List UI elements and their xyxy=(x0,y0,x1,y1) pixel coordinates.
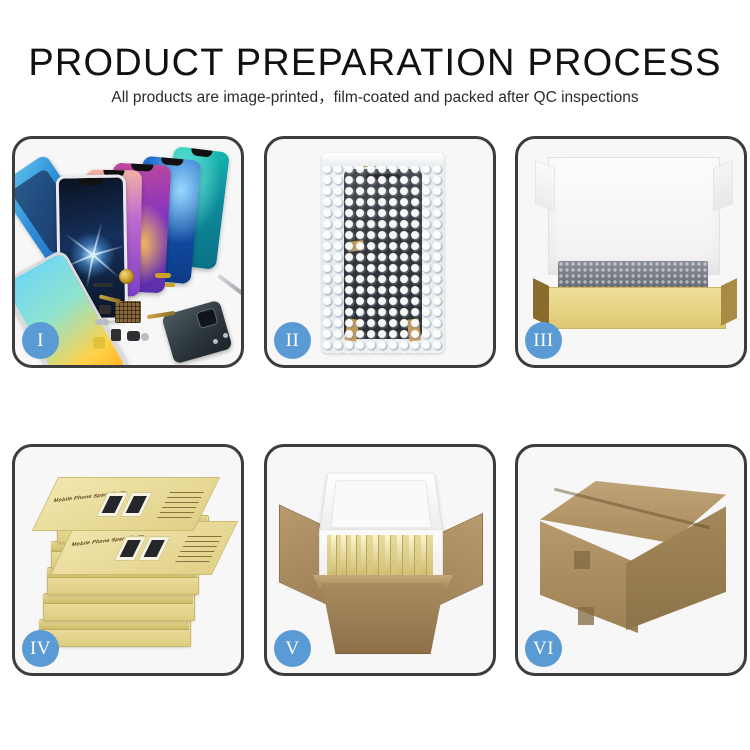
part-screw xyxy=(213,339,218,344)
flex-cable xyxy=(99,294,121,303)
white-box-lid xyxy=(548,157,720,275)
box-stack: Mobile Phone Spare Parts Mobile Phone Sp… xyxy=(29,469,229,659)
step-badge-2: II xyxy=(274,322,311,359)
page-subtitle: All products are image-printed，film-coat… xyxy=(0,88,750,108)
part-screw xyxy=(223,333,228,338)
screwdriver-tool xyxy=(217,274,241,296)
part-yellow-tag xyxy=(93,337,105,349)
part-screw xyxy=(141,333,149,341)
header: PRODUCT PREPARATION PROCESS All products… xyxy=(0,0,750,125)
retail-box-lid-back: Mobile Phone Spare Parts xyxy=(32,477,220,531)
disassembled-parts-group xyxy=(93,267,241,365)
part-strip xyxy=(93,283,113,287)
page-title: PRODUCT PREPARATION PROCESS xyxy=(0,43,750,83)
part-bracket xyxy=(99,305,111,314)
part-gold-contact xyxy=(165,283,175,287)
kraft-box-base xyxy=(544,287,726,329)
bubble-wrap-bag xyxy=(322,153,444,353)
product-boxes-inside xyxy=(327,535,433,577)
step-badge-5: V xyxy=(274,630,311,667)
step-badge-3: III xyxy=(525,322,562,359)
bubble-texture xyxy=(322,153,444,353)
notch-icon xyxy=(79,178,103,185)
part-taptic-engine xyxy=(127,331,140,341)
logic-board-chip xyxy=(115,301,141,323)
notch-icon xyxy=(191,148,213,158)
product-preparation-infographic: PRODUCT PREPARATION PROCESS All products… xyxy=(0,0,750,750)
step-badge-4: IV xyxy=(22,630,59,667)
carton-body xyxy=(313,583,453,654)
phone-back-housing xyxy=(161,300,232,365)
speaker-coin-part xyxy=(119,269,134,284)
box-spec-lines xyxy=(157,490,205,518)
sealed-carton xyxy=(540,481,726,635)
tape-patch xyxy=(578,607,594,625)
tape-patch xyxy=(574,551,590,569)
process-step-grid: I II xyxy=(0,136,750,696)
part-connector xyxy=(95,319,109,325)
bag-seal-flap xyxy=(322,153,444,166)
part-gold-contact xyxy=(155,273,171,278)
box-spec-lines xyxy=(175,534,223,562)
step-badge-6: VI xyxy=(525,630,562,667)
step-badge-1: I xyxy=(22,322,59,359)
part-camera-module xyxy=(111,329,121,341)
